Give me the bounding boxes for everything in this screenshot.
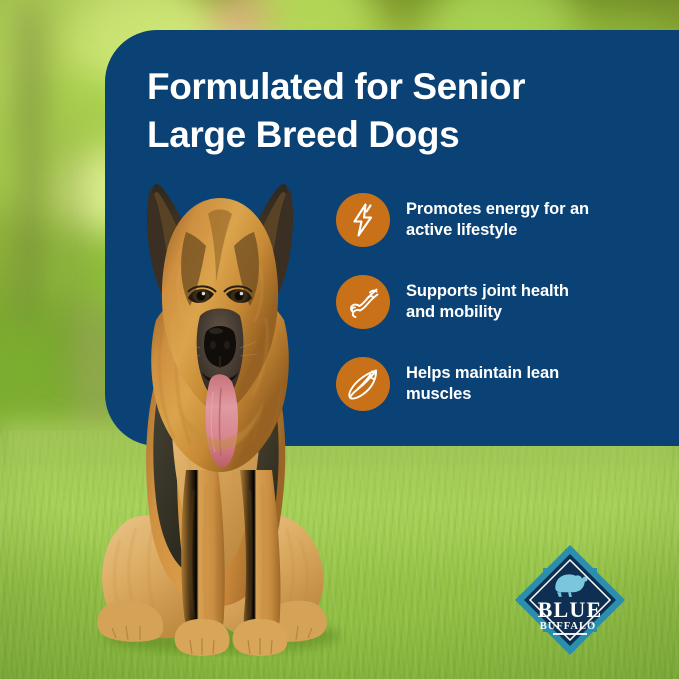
logo-brand-line-2: BUFFALO [540,621,596,632]
page-title: Formulated for Senior Large Breed Dogs [147,63,647,159]
benefit-item-energy: Promotes energy for an active lifestyle [336,193,656,247]
tree-trunk-left [18,0,44,330]
benefit-muscle-line-2: muscles [406,385,471,403]
headline-line-2: Large Breed Dogs [147,111,647,159]
muscle-icon [336,357,390,411]
benefit-text-joint: Supports joint health and mobility [406,281,569,323]
benefit-joint-line-2: and mobility [406,303,502,321]
benefit-muscle-line-1: Helps maintain lean [406,364,559,382]
benefits-list: Promotes energy for an active lifestyle … [336,193,656,411]
benefit-energy-line-1: Promotes energy for an [406,200,589,218]
benefit-energy-line-2: active lifestyle [406,221,517,239]
benefit-text-energy: Promotes energy for an active lifestyle [406,199,589,241]
logo-brand-line-1: BLUE [538,597,603,622]
product-lifestyle-image: Formulated for Senior Large Breed Dogs P… [0,0,679,679]
headline-line-1: Formulated for Senior [147,63,647,111]
logo-trademark: ® [590,621,594,627]
blue-buffalo-logo: BLUE BUFFALO ® [513,543,627,657]
joint-bone-icon [336,275,390,329]
benefit-joint-line-1: Supports joint health [406,282,569,300]
benefit-item-joint: Supports joint health and mobility [336,275,656,329]
benefit-item-muscle: Helps maintain lean muscles [336,357,656,411]
benefit-text-muscle: Helps maintain lean muscles [406,363,559,405]
lightning-bolt-icon [336,193,390,247]
